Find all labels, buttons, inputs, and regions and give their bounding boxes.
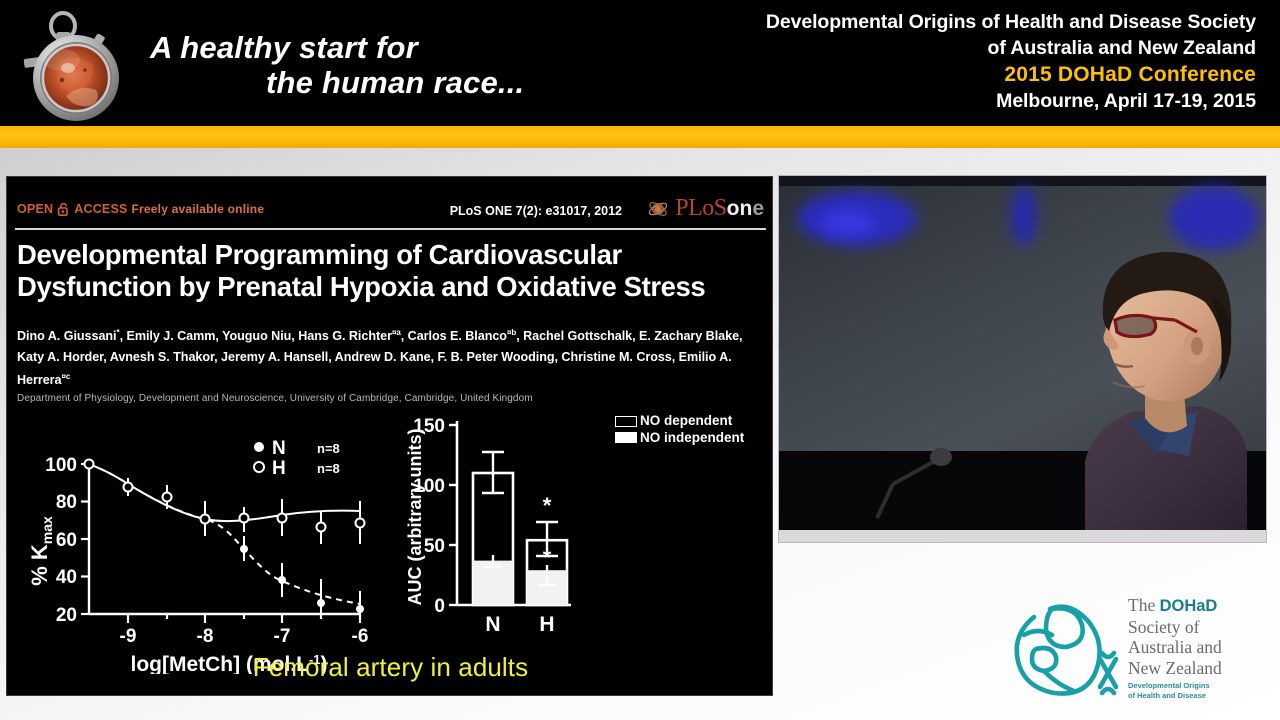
line-xtick-neg6: -6 bbox=[352, 626, 369, 647]
presentation-slide: OPEN ACCESS Freely available online PLoS… bbox=[6, 176, 773, 696]
legend-n-N: n=8 bbox=[317, 441, 340, 456]
open-access-label-open: OPEN bbox=[17, 202, 53, 216]
tagline-line-2: the human race... bbox=[266, 65, 630, 100]
legend-marker-H-icon bbox=[254, 462, 264, 472]
bar-chart-y-axis-label: AUC (arbitrary units) bbox=[405, 428, 425, 605]
event-tagline: A healthy start for the human race... bbox=[150, 30, 630, 100]
open-access-note: Freely available online bbox=[132, 202, 265, 216]
legend-label-no-independent: NO independent bbox=[640, 430, 744, 447]
open-access-label-access: ACCESS bbox=[74, 202, 127, 216]
line-ytick-80: 80 bbox=[56, 492, 77, 513]
auc-bar-chart: 150 100 50 0 bbox=[399, 405, 599, 675]
line-xtick-neg9: -9 bbox=[120, 626, 137, 647]
journal-citation: PLoS ONE 7(2): e31017, 2012 bbox=[450, 204, 622, 218]
open-lock-icon bbox=[57, 202, 70, 216]
gold-divider-bar bbox=[0, 126, 1280, 148]
speaker-video-panel[interactable] bbox=[779, 176, 1266, 542]
dohad-logo-line4: New Zealand bbox=[1128, 658, 1222, 678]
slide-caption: Femoral artery in adults bbox=[7, 652, 773, 683]
speaker-figure bbox=[1071, 236, 1256, 531]
dohad-society-logo: The DOHaD Society of Australia and New Z… bbox=[1000, 585, 1270, 710]
line-chart-y-axis-label: % Kmax bbox=[29, 516, 55, 586]
paper-authors: Dino A. Giussani*, Emily J. Camm, Youguo… bbox=[17, 323, 772, 391]
plos-one-wordmark: PLoSone bbox=[675, 195, 764, 222]
line-xtick-neg8: -8 bbox=[197, 626, 214, 647]
legend-label-N: N bbox=[272, 439, 286, 459]
dohad-tagline-line2: of Health and Disease bbox=[1128, 691, 1206, 700]
dohad-logo-the: The bbox=[1128, 595, 1160, 615]
society-line-2: of Australia and New Zealand bbox=[766, 36, 1256, 62]
dohad-logo-text: The DOHaD Society of Australia and New Z… bbox=[1128, 595, 1270, 678]
projected-glow-3 bbox=[1011, 186, 1037, 246]
legend-label-no-dependent: NO dependent bbox=[640, 413, 732, 430]
dohad-logo-line2: Society of bbox=[1128, 617, 1199, 637]
legend-swatch-open-icon bbox=[615, 416, 637, 427]
microphone-icon bbox=[859, 446, 964, 526]
paper-title: Developmental Programming of Cardiovascu… bbox=[17, 239, 767, 303]
plos-one-logo: PLoSone bbox=[647, 195, 764, 222]
bar-ytick-50: 50 bbox=[424, 536, 445, 557]
line-series-N-markers bbox=[240, 545, 364, 613]
tagline-line-1: A healthy start for bbox=[150, 30, 630, 65]
conference-banner: A healthy start for the human race... De… bbox=[0, 0, 1280, 148]
bar-N bbox=[473, 452, 513, 605]
line-ytick-40: 40 bbox=[56, 567, 77, 588]
bar-xtick-N: N bbox=[485, 613, 500, 636]
paper-affiliation: Department of Physiology, Development an… bbox=[17, 392, 767, 405]
plos-wordmark-on: on bbox=[727, 197, 753, 220]
line-chart-legend: N n=8 H n=8 bbox=[254, 439, 340, 479]
plos-orbit-icon bbox=[647, 198, 669, 220]
dohad-tagline-line1: Developmental Origins bbox=[1128, 681, 1210, 690]
line-chart-x-ticks bbox=[128, 614, 360, 623]
line-xtick-neg7: -7 bbox=[274, 626, 291, 647]
dohad-logo-tagline: Developmental Origins of Health and Dise… bbox=[1128, 681, 1270, 700]
society-line-1: Developmental Origins of Health and Dise… bbox=[766, 10, 1256, 36]
video-lower-edge bbox=[779, 530, 1266, 542]
conference-details: Developmental Origins of Health and Dise… bbox=[766, 10, 1256, 115]
legend-marker-N-icon bbox=[254, 442, 264, 452]
bar-ytick-0: 0 bbox=[434, 596, 445, 617]
legend-row-no-independent: NO independent bbox=[615, 430, 744, 447]
bar-xtick-H: H bbox=[539, 613, 554, 636]
line-chart-svg: 100 80 60 40 20 -9 -8 -7 -6 bbox=[29, 439, 379, 674]
legend-swatch-filled-icon bbox=[615, 432, 637, 443]
dohad-logo-acronym: DOHaD bbox=[1160, 597, 1218, 615]
line-ytick-20: 20 bbox=[56, 605, 77, 626]
bar-H-significance-star-top: * bbox=[543, 493, 552, 518]
plos-wordmark-plos: PLoS bbox=[675, 195, 726, 221]
plos-wordmark-e: e bbox=[752, 197, 764, 220]
legend-label-H: H bbox=[272, 458, 286, 479]
bar-chart-svg: 150 100 50 0 bbox=[399, 405, 599, 675]
conference-venue-date: Melbourne, April 17-19, 2015 bbox=[766, 89, 1256, 115]
stopwatch-fetus-icon bbox=[22, 10, 134, 128]
line-ytick-60: 60 bbox=[56, 530, 77, 551]
projected-glow-2 bbox=[821, 210, 876, 236]
header-divider bbox=[15, 228, 766, 230]
dohad-logo-line3: Australia and bbox=[1128, 637, 1222, 657]
bar-H: * * bbox=[527, 493, 567, 605]
line-ytick-100: 100 bbox=[45, 455, 77, 476]
bar-H-significance-star-lower: * bbox=[543, 545, 552, 570]
legend-row-no-dependent: NO dependent bbox=[615, 413, 744, 430]
dohad-mother-child-icon bbox=[1000, 587, 1122, 707]
legend-n-H: n=8 bbox=[317, 461, 340, 476]
conference-name: 2015 DOHaD Conference bbox=[766, 61, 1256, 89]
bar-chart-legend: NO dependent NO independent bbox=[615, 413, 744, 446]
dose-response-line-chart: 100 80 60 40 20 -9 -8 -7 -6 bbox=[29, 439, 379, 674]
